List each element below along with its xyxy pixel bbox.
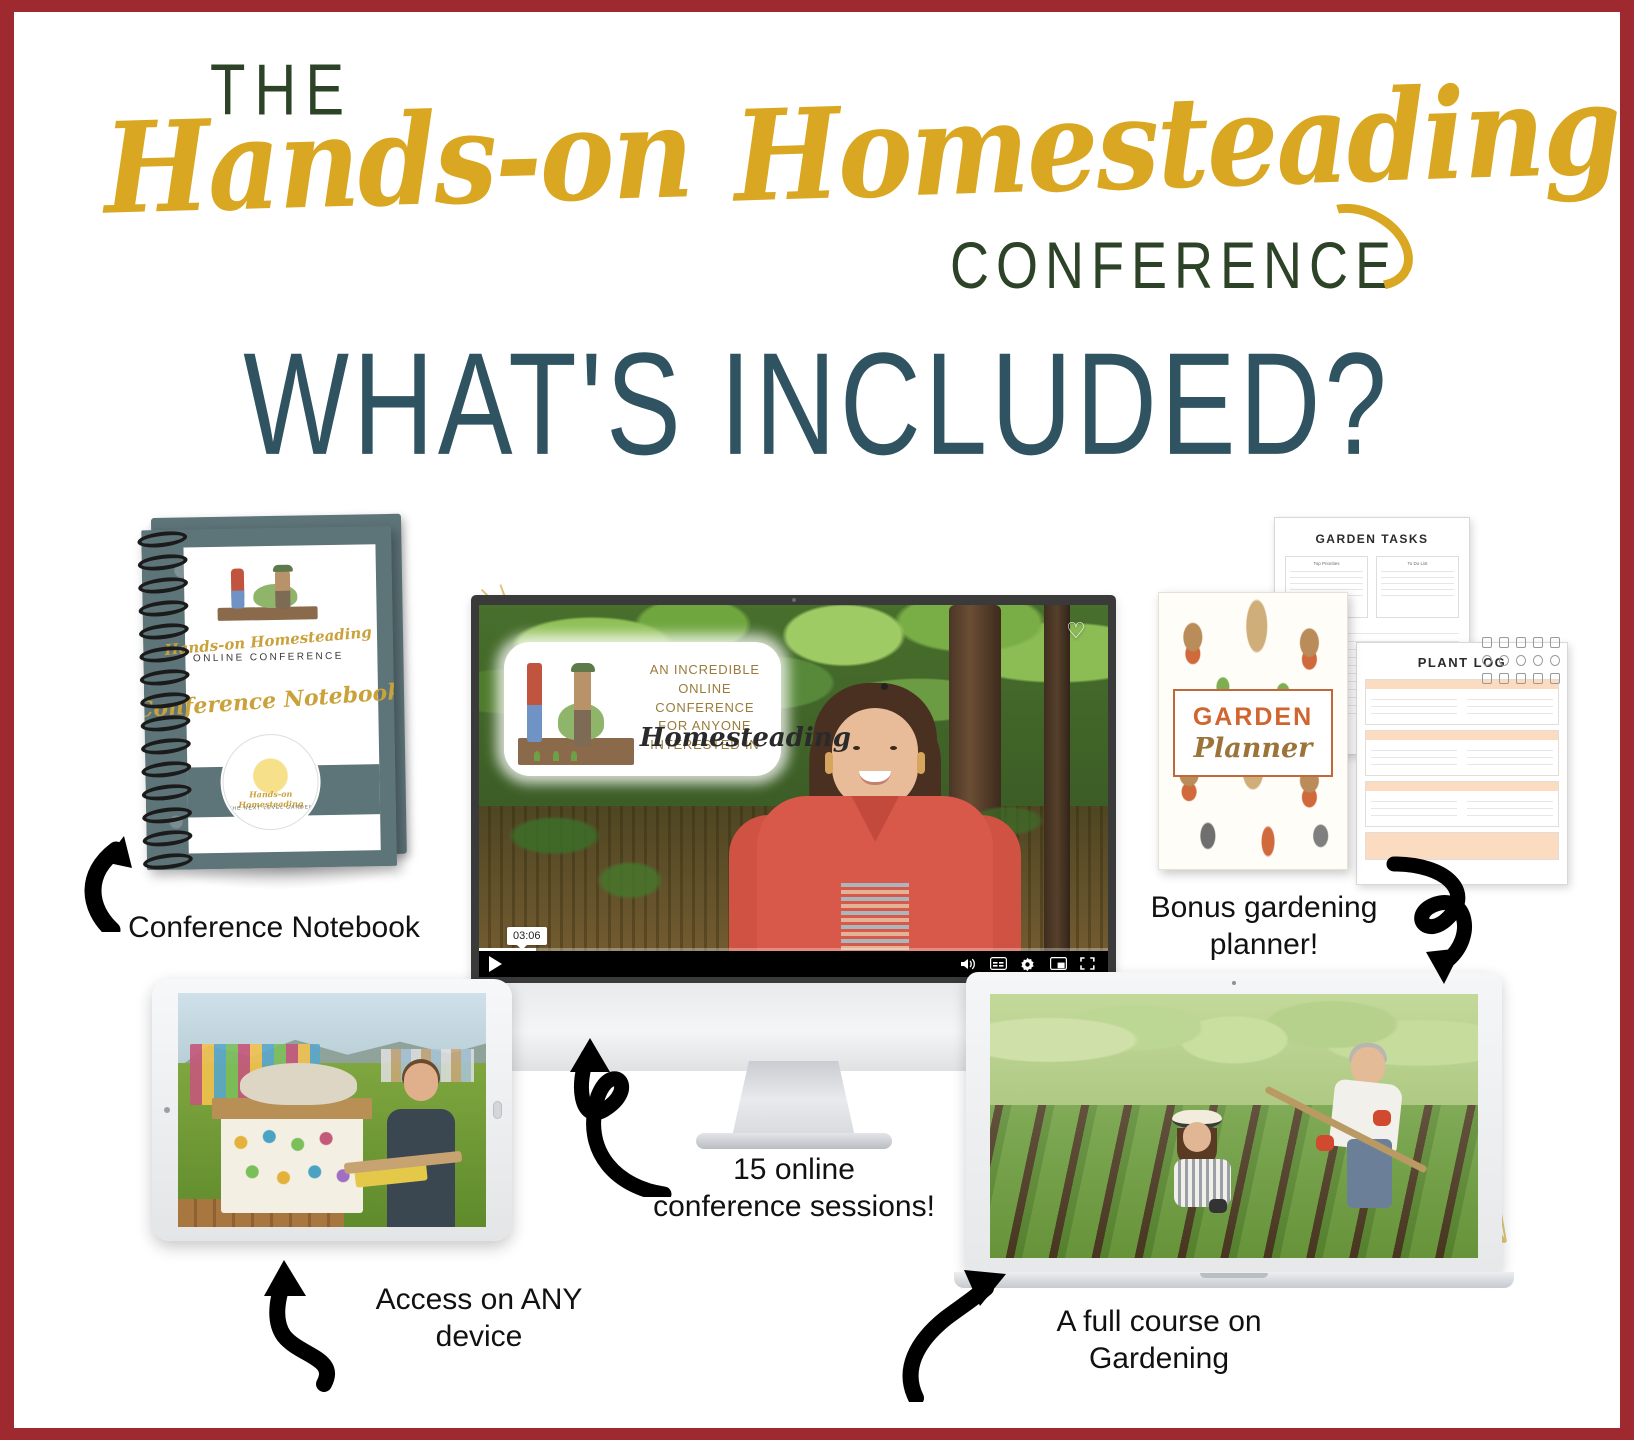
caption-gardening-course: A full course on Gardening — [994, 1304, 1324, 1377]
garden-tasks-column-todo: To Do List — [1376, 556, 1459, 618]
planner-cover-label: GARDEN Planner — [1173, 689, 1333, 777]
heart-icon[interactable]: ♡ — [1066, 619, 1090, 643]
cloud-icon — [1482, 637, 1492, 648]
garden-planner-cover: GARDEN Planner — [1158, 592, 1348, 870]
planner-cover-title: GARDEN — [1175, 703, 1331, 732]
settings-gear-icon[interactable] — [1020, 957, 1036, 971]
caption-any-device: Access on ANY device — [314, 1282, 644, 1355]
gardener-man — [1312, 1047, 1410, 1205]
notebook-spiral-binding — [137, 527, 199, 868]
laptop-base-notch — [1200, 1273, 1268, 1278]
garden-planner-images: GARDEN TASKS Top Priorities To Do List P… — [1146, 517, 1566, 897]
caption-online-sessions: 15 online conference sessions! — [614, 1152, 974, 1225]
sun-icon — [1550, 655, 1560, 666]
notebook-gardeners-illustration — [213, 563, 322, 621]
tablet-camera-icon — [164, 1107, 170, 1113]
monitor-stand — [732, 1061, 856, 1139]
plant-log-entry — [1365, 730, 1559, 776]
plant-log-entry — [1365, 781, 1559, 827]
tablet-home-button[interactable] — [493, 1101, 502, 1119]
overlay-script-word: Homesteading — [640, 723, 770, 753]
notebook-seal-subtext: THE NEXT LEVEL GARDEN — [224, 804, 318, 812]
planner-weather-icons — [1482, 637, 1560, 691]
rain-icon — [1533, 673, 1543, 684]
cloud-icon — [1499, 637, 1509, 648]
conference-notebook-image: Hands-on Homesteading ONLINE CONFERENCE … — [137, 518, 409, 868]
laptop-camera-icon — [1232, 981, 1236, 985]
video-timestamp-tooltip: 03:06 — [507, 927, 547, 945]
caption-conference-notebook: Conference Notebook — [74, 910, 474, 947]
overlay-gardeners-illustration — [518, 658, 634, 765]
sun-icon — [1499, 655, 1509, 666]
gardener-woman — [1156, 1110, 1239, 1216]
sun-icon — [1533, 655, 1543, 666]
garden-tasks-col2-header: To Do List — [1381, 561, 1454, 566]
video-host-person — [756, 665, 995, 977]
tablet-screen[interactable] — [178, 993, 486, 1227]
sun-icon — [1516, 655, 1526, 666]
video-title-overlay: AN INCREDIBLE ONLINE CONFERENCE FOR ANYO… — [504, 642, 781, 776]
rain-icon — [1482, 673, 1492, 684]
caption-bonus-planner: Bonus gardening planner! — [1104, 890, 1424, 963]
cloud-icon — [1533, 637, 1543, 648]
video-player[interactable]: AN INCREDIBLE ONLINE CONFERENCE FOR ANYO… — [479, 605, 1108, 977]
cloud-icon — [1516, 637, 1526, 648]
tablet-device — [152, 979, 512, 1241]
fullscreen-icon[interactable] — [1080, 957, 1096, 971]
planner-cover-script: Planner — [1175, 733, 1331, 764]
garden-tasks-title: GARDEN TASKS — [1275, 532, 1469, 546]
beekeeper-person — [375, 1063, 467, 1227]
logo-homesteading: Homesteading — [732, 56, 1620, 230]
tablet-body — [152, 979, 512, 1241]
plant-log-footer — [1365, 832, 1559, 860]
beehive-box — [221, 1115, 363, 1213]
logo-hands-on: Hands-on — [102, 80, 694, 243]
cloud-icon — [1550, 637, 1560, 648]
volume-icon[interactable] — [960, 957, 976, 971]
sun-icon — [1482, 655, 1492, 666]
poster-frame: THE Hands-on Homesteading CONFERENCE WHA… — [0, 0, 1634, 1440]
notebook-drop-shadow — [173, 866, 399, 892]
rain-icon — [1550, 673, 1560, 684]
rain-icon — [1499, 673, 1509, 684]
monitor-base — [696, 1133, 892, 1149]
monitor-webcam-icon — [792, 598, 796, 602]
laptop-device — [954, 972, 1514, 1302]
laptop-lid — [966, 972, 1502, 1272]
captions-icon[interactable] — [990, 957, 1006, 971]
rain-icon — [1516, 673, 1526, 684]
play-icon[interactable] — [489, 956, 502, 972]
laptop-screen[interactable] — [990, 994, 1478, 1258]
monitor-bezel: AN INCREDIBLE ONLINE CONFERENCE FOR ANYO… — [471, 595, 1116, 985]
poster-canvas: THE Hands-on Homesteading CONFERENCE WHA… — [14, 12, 1620, 1428]
page-title: WHAT'S INCLUDED? — [14, 320, 1620, 488]
garden-tasks-col1-header: Top Priorities — [1290, 561, 1363, 566]
miniplayer-icon[interactable] — [1050, 957, 1066, 971]
